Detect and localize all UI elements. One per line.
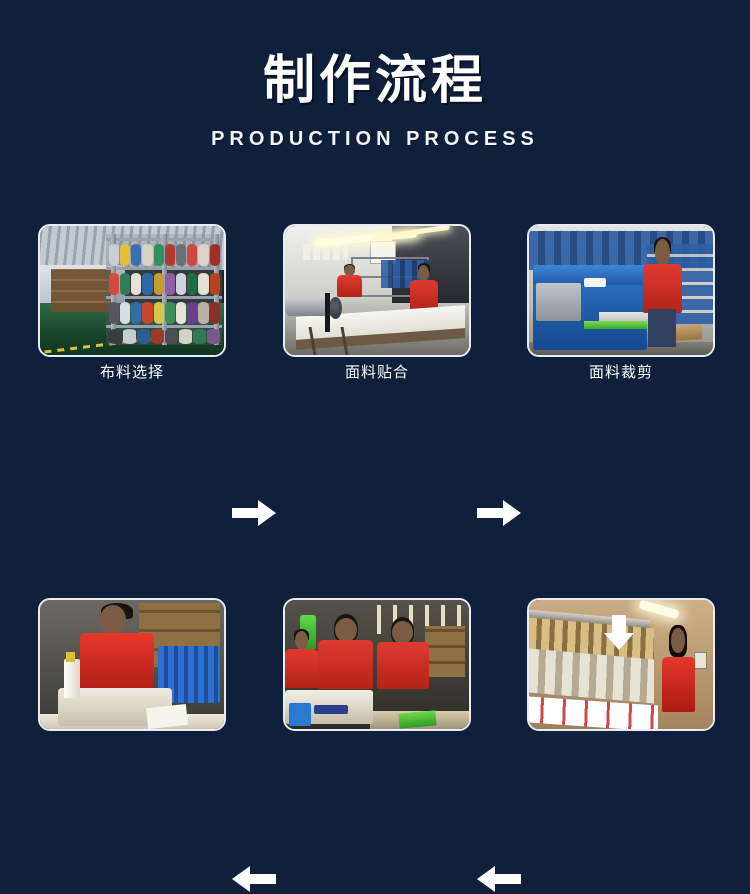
photo-fabric-laminating <box>283 224 471 357</box>
scene-fabric-warehouse <box>40 226 224 355</box>
process-step-4[interactable] <box>38 598 226 739</box>
step-caption-1: 布料选择 <box>38 365 226 380</box>
arrow-down-icon-3 <box>603 615 635 651</box>
scene-fabric-laminating <box>285 226 469 355</box>
process-row-1: 布料选择 <box>0 224 750 394</box>
process-grid: 布料选择 <box>0 224 750 564</box>
arrow-right-icon-1 <box>232 498 276 528</box>
photo-sewing-operator <box>38 598 226 731</box>
step-caption-3: 面料裁剪 <box>527 365 715 380</box>
arrow-right-icon-2 <box>477 498 521 528</box>
scene-sewing-line <box>285 600 469 729</box>
page-title-chinese: 制作流程 <box>0 0 750 107</box>
process-row-2 <box>0 394 750 564</box>
step-caption-2: 面料贴合 <box>283 365 471 380</box>
arrow-left-icon-4 <box>477 864 521 894</box>
scene-sewing-operator <box>40 600 224 729</box>
photo-fabric-warehouse <box>38 224 226 357</box>
process-step-2[interactable]: 面料贴合 <box>283 224 471 380</box>
photo-sewing-line <box>283 598 471 731</box>
page-header: 制作流程 PRODUCTION PROCESS <box>0 0 750 149</box>
photo-fabric-cutting <box>527 224 715 357</box>
process-step-3[interactable]: 面料裁剪 <box>527 224 715 380</box>
process-step-1[interactable]: 布料选择 <box>38 224 226 380</box>
arrow-left-icon-5 <box>232 864 276 894</box>
page-title-english: PRODUCTION PROCESS <box>0 107 750 149</box>
process-step-5[interactable] <box>283 598 471 739</box>
scene-fabric-cutting <box>529 226 713 355</box>
